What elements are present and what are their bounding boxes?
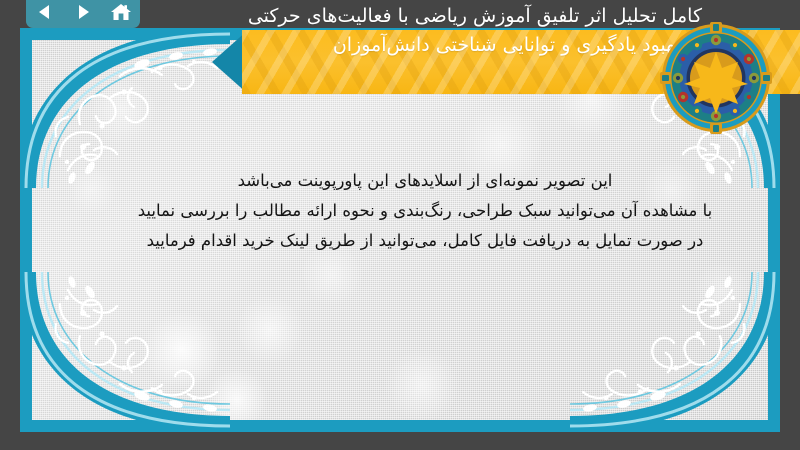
previous-slide-button[interactable] — [31, 0, 59, 24]
body-line-3: در صورت تمایل به دریافت فایل کامل، می‌تو… — [60, 228, 780, 254]
home-icon — [110, 2, 132, 22]
islamic-medallion-ornament — [660, 22, 772, 134]
triangle-left-icon — [35, 2, 55, 22]
triangle-right-icon — [73, 2, 93, 22]
body-line-2: با مشاهده آن می‌توانید سبک طراحی، رنگ‌بن… — [60, 198, 780, 224]
slide-navigation-bar — [26, 0, 140, 28]
body-line-1: این تصویر نمونه‌ای از اسلایدهای این پاور… — [60, 168, 780, 194]
home-button[interactable] — [107, 0, 135, 24]
slide-viewer-window: این تصویر نمونه‌ای از اسلایدهای این پاور… — [0, 0, 800, 450]
slide-body-text: این تصویر نمونه‌ای از اسلایدهای این پاور… — [60, 168, 780, 258]
next-slide-button[interactable] — [69, 0, 97, 24]
